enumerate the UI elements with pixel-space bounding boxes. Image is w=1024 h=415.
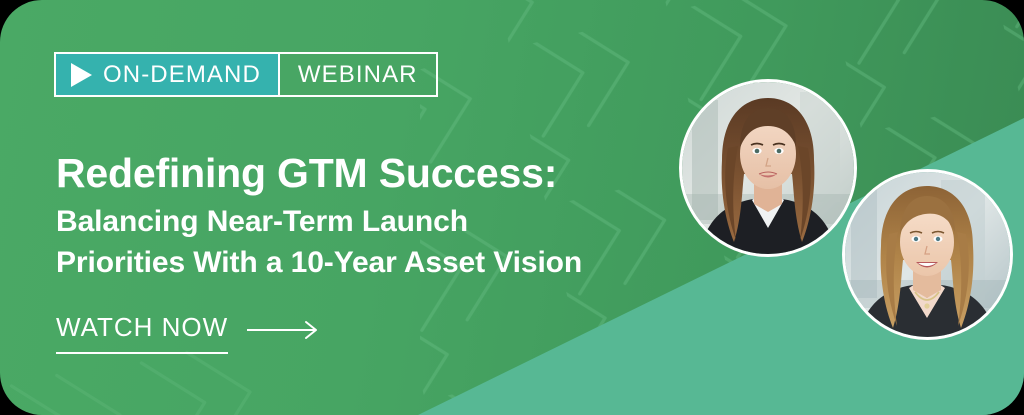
speaker-portrait-1 <box>682 82 854 254</box>
badge-webinar-segment: WEBINAR <box>280 54 436 95</box>
badge-on-demand-label: ON-DEMAND <box>103 63 261 87</box>
speaker-portrait-2 <box>845 172 1010 337</box>
banner-subtitle-line-2: Priorities With a 10-Year Asset Vision <box>56 242 582 283</box>
webinar-promo-banner: ON-DEMAND WEBINAR Redefining GTM Success… <box>0 0 1024 415</box>
banner-title: Redefining GTM Success: <box>56 153 557 194</box>
badge-on-demand-segment: ON-DEMAND <box>56 54 280 95</box>
on-demand-webinar-badge: ON-DEMAND WEBINAR <box>54 52 438 97</box>
banner-subtitle: Balancing Near-Term Launch Priorities Wi… <box>56 201 582 284</box>
play-triangle-icon <box>71 63 92 87</box>
watch-now-label: WATCH NOW <box>56 310 228 354</box>
long-right-arrow-icon <box>246 320 322 340</box>
watch-now-cta[interactable]: WATCH NOW <box>56 310 322 354</box>
badge-webinar-label: WEBINAR <box>298 63 418 87</box>
banner-subtitle-line-1: Balancing Near-Term Launch <box>56 201 582 242</box>
